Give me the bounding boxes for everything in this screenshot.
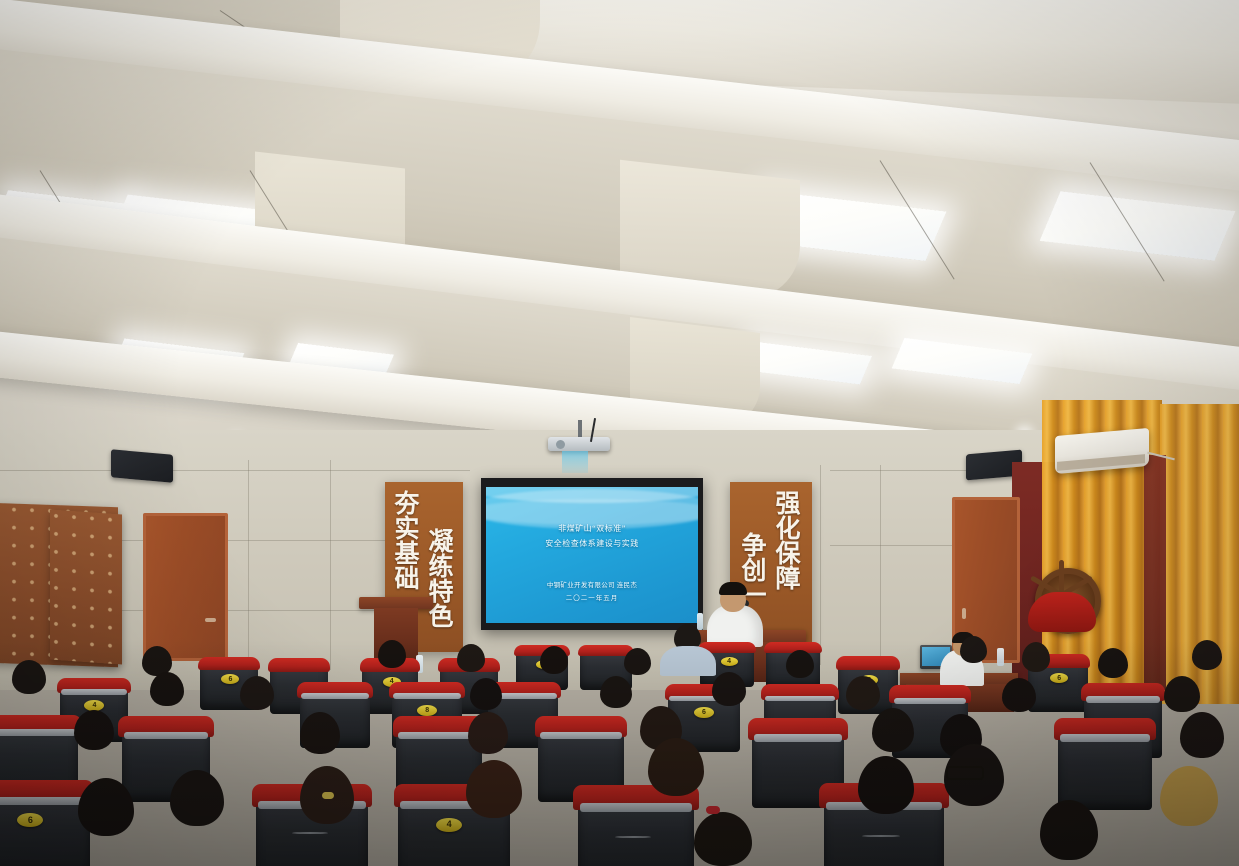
audience-head [74,710,114,750]
door-left-handle[interactable] [205,618,216,622]
audience-head [1002,678,1036,712]
seat-lumbar-strip [765,696,834,702]
presenter-hair [719,582,747,595]
seat-number-plate: 8 [417,705,437,716]
audience-head [1180,712,1224,758]
wall-speaker-left [111,449,173,482]
seat-lumbar-strip [580,803,691,811]
seat-lumbar-strip [1060,734,1150,742]
audience-head [12,660,46,694]
audience-head [470,678,502,710]
ship-wheel-red-drape [1028,592,1096,632]
seat-lumbar-strip [393,693,460,699]
projector-lens [556,440,565,449]
wall-tile-seam-4 [248,460,249,680]
audience-head [694,812,752,866]
audience-head [466,760,522,818]
audience-head [960,636,987,663]
audience-head [1160,766,1218,826]
audience-head [624,648,651,675]
seat-number-plate: 4 [436,818,462,832]
audience-head [240,676,274,710]
slide-presenter-org: 中钢矿业开发有限公司 连民杰 [486,579,698,589]
audience-head [600,676,632,708]
seat-lumbar-strip [754,734,842,742]
seat-lumbar-strip [0,797,88,805]
audience-shoulders [660,646,716,676]
slide-date: 二〇二一年五月 [486,592,698,602]
seat-lumbar-strip [61,689,126,694]
water-bottle-desk [997,648,1004,666]
wall-tile-seam-9 [820,465,821,665]
audience-head [150,672,184,706]
projected-slide: 非煤矿山“双标准” 安全检查体系建设与实践 中钢矿业开发有限公司 连民杰 二〇二… [486,487,698,623]
eyeglasses-icon [946,766,984,780]
audience-head [846,676,880,710]
audience-head [858,756,914,814]
seat-number-plate: 4 [721,657,738,666]
audience-head [1164,676,1200,712]
audience-head [1098,648,1128,678]
seat-lumbar-strip [540,732,623,739]
audience-head [1040,800,1098,860]
seat-lumbar-strip [124,732,208,739]
wall-tile-seam-5 [330,460,331,670]
water-bottle-podium [697,613,703,630]
seat[interactable] [578,792,694,866]
slide-title-line-1: 非煤矿山“双标准” [486,523,698,534]
audience-head [786,650,814,678]
seat[interactable]: 6 [0,786,90,866]
audience-head [872,708,914,752]
banner-right-column-1: 强化保障 [772,490,798,590]
audience-head [1022,642,1050,672]
seat-lumbar-strip [894,698,967,704]
door-right-handle[interactable] [962,608,966,619]
door-left[interactable] [143,513,228,661]
audience-head [1192,640,1222,670]
seat-headrest [836,656,901,670]
banner-left-column-1: 夯实基础 [391,490,417,590]
audience-head [300,712,340,754]
audience-head [712,672,746,706]
audience-head [457,644,485,672]
seat-headrest [198,657,261,670]
seat-lumbar-strip [1086,696,1161,702]
lecture-hall-photo: 夯实基础 凝练特色 强化保障 争创一 非煤矿山“双标准” 安全检查体系建设与实践… [0,0,1239,866]
audience-head [468,712,508,754]
audience-head [378,640,406,668]
right-wall-red-pillar [1144,455,1166,690]
acoustic-panel-left-2 [50,509,122,664]
wall-tile-seam-1 [0,470,470,471]
audience-head [540,646,568,674]
seat-lumbar-strip [0,729,76,736]
audience-head [170,770,224,826]
wall-tile-seam-8 [880,465,881,665]
seat-lumbar-strip [301,693,368,699]
audience-head [648,738,704,796]
audience-head [78,778,134,836]
slide-title-line-2: 安全检查体系建设与实践 [486,538,698,549]
projector-beam [562,451,588,473]
seat[interactable] [1058,724,1152,810]
seat-headrest [268,658,331,672]
hair-tie [706,806,720,814]
hair-tie [322,792,334,799]
banner-left-column-2: 凝练特色 [425,528,451,628]
